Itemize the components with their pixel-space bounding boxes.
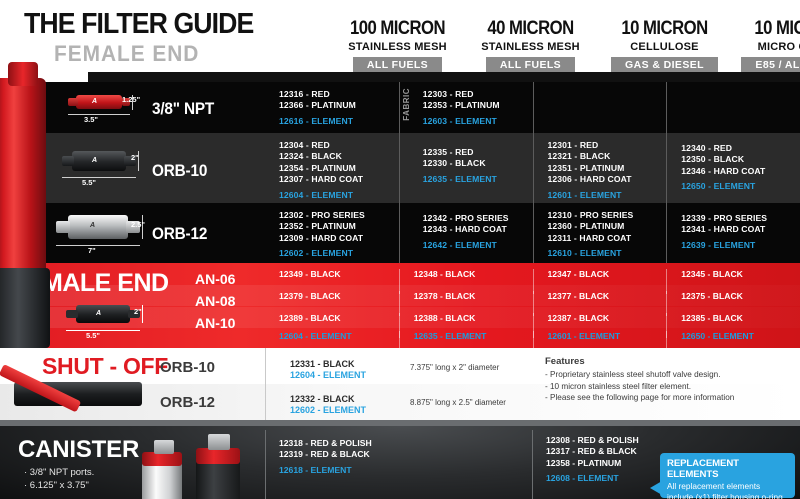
part-number: 12301 - RED [548,140,667,151]
callout-title: REPLACEMENT ELEMENTS [667,458,788,480]
part-number: 12385 - BLACK [681,313,800,324]
column-media-label: MICRO GLASS [665,41,800,53]
canister-section: CANISTER · 3/8" NPT ports. · 6.125" x 3.… [0,426,800,499]
dimension-diameter: 1.25" [122,95,140,104]
brand-logo-icon: A [90,222,95,229]
part-number: 12353 - PLATINUM [423,100,533,111]
male-end-section: MALE END AN-06 AN-08 AN-10 A 5.5" 2" 123… [0,263,800,348]
part-number: 12343 - HARD COAT [423,224,533,235]
part-number: 12348 - BLACK [414,269,533,280]
dimension-line-diameter [142,305,143,323]
dimension-line-length [56,245,140,246]
dimension-line-length [66,330,140,331]
part-number: 12321 - BLACK [548,151,667,162]
part-number: 12311 - HARD COAT [548,233,667,244]
part-number: 12351 - PLATINUM [548,163,667,174]
brand-logo-icon: A [92,157,97,164]
page-title: THE FILTER GUIDE [24,8,253,41]
dimension-line-length [62,177,136,178]
canister-image-polish [140,440,184,499]
part-number: 12358 - PLATINUM [546,458,639,469]
callout-text: All replacement elements include (x1) fi… [667,481,788,499]
male-fitting-photo [0,268,50,348]
shut-off-label-orb12: ORB-12 [160,394,215,411]
filter-endcap-left [66,310,78,318]
cell-npt-100micron: 12316 - RED 12366 - PLATINUM 12616 - ELE… [265,82,399,133]
fabric-side-tag: FABRIC [402,88,411,121]
part-number: 12318 - RED & POLISH [279,438,372,449]
part-number-element: 12635 - ELEMENT [423,174,533,185]
part-number-element: 12602 - ELEMENT [290,404,366,416]
brand-logo-icon: A [92,98,97,105]
part-number: 12354 - PLATINUM [279,163,399,174]
dimension-diameter: 2" [134,307,142,316]
part-number: 12309 - HARD COAT [279,233,399,244]
canister-cell-10micron: 12308 - RED & POLISH 12317 - RED & BLACK… [546,435,639,485]
part-number: 12377 - BLACK [548,291,667,302]
cell-npt-40micron: FABRIC 12303 - RED 12353 - PLATINUM 1260… [399,82,533,133]
table-row-npt: A 3.5" 1.25" 3/8" NPT 12316 - RED 12366 … [0,82,800,133]
part-number: 12341 - HARD COAT [681,224,800,235]
features-title: Features [545,356,734,367]
part-number: 12388 - BLACK [414,313,533,324]
features-block: Features - Proprietary stainless steel s… [545,356,734,404]
part-number: 12389 - BLACK [279,313,399,324]
part-number-element: 12610 - ELEMENT [548,248,667,259]
part-number-element: 12616 - ELEMENT [279,116,399,127]
part-number: 12330 - BLACK [423,158,533,169]
page-header: THE FILTER GUIDE FEMALE END 100 MICRON S… [0,0,800,82]
part-number: 12378 - BLACK [414,291,533,302]
part-number: 12347 - BLACK [548,269,667,280]
filter-endcap-left [68,98,78,106]
part-number-element: 12602 - ELEMENT [279,248,399,259]
part-number: 12346 - HARD COAT [681,166,800,177]
table-row-orb10: A 5.5" 2" ORB-10 12304 - RED 12324 - BLA… [0,133,800,203]
cell-npt-10micron-microglass [666,82,800,133]
part-number: 12317 - RED & BLACK [546,446,639,457]
male-size-an08: AN-08 [195,293,235,309]
part-number: 12340 - RED [681,143,800,154]
canister-cell-100micron: 12318 - RED & POLISH 12319 - RED & BLACK… [279,438,372,476]
part-number: 12352 - PLATINUM [279,221,399,232]
column-micron-label: 10 MICRON [681,18,800,40]
section-title-female-end: FEMALE END [54,41,199,67]
cell-orb10-100micron: 12304 - RED 12324 - BLACK 12354 - PLATIN… [265,133,399,203]
filter-endcap-left [62,156,74,166]
cell-orb12-10micron-microglass: 12339 - PRO SERIES 12341 - HARD COAT 126… [666,203,800,263]
red-canister-cap-photo [8,62,38,86]
part-number: 12345 - BLACK [681,269,800,280]
cell-orb12-10micron-cellulose: 12310 - PRO SERIES 12360 - PLATINUM 1231… [533,203,667,263]
dimension-diameter: 2" [131,153,139,162]
section-title-shut-off: SHUT - OFF [42,353,168,380]
part-number: 12308 - RED & POLISH [546,435,639,446]
shut-off-label-orb10: ORB-10 [160,359,215,376]
cell-npt-10micron-cellulose [533,82,667,133]
part-number: 12349 - BLACK [279,269,399,280]
male-size-an06: AN-06 [195,271,235,287]
header-rule [88,72,800,82]
cell-orb12-100micron: 12302 - PRO SERIES 12352 - PLATINUM 1230… [265,203,399,263]
row-label-orb10: ORB-10 [152,162,207,181]
part-number: 12319 - RED & BLACK [279,449,372,460]
filter-body-image [68,215,128,239]
canister-divider-2 [532,430,533,499]
canister-bullet: · 6.125" x 3.75" [24,480,89,491]
part-number: 12342 - PRO SERIES [423,213,533,224]
part-number-element: 12608 - ELEMENT [546,473,639,484]
filter-body-image [76,95,122,109]
part-number-element: 12604 - ELEMENT [279,331,399,342]
dimension-length: 7" [88,246,96,255]
part-number-element: 12642 - ELEMENT [423,240,533,251]
filter-body-image [76,305,130,323]
part-number: 12360 - PLATINUM [548,221,667,232]
section-title-male-end: MALE END [42,269,169,298]
part-number: 12387 - BLACK [548,313,667,324]
shut-off-dimension-orb10: 7.375" long x 2" diameter [410,363,499,372]
cell-orb12-40micron: 12342 - PRO SERIES 12343 - HARD COAT 126… [399,203,533,263]
column-fuel-badge: E85 / ALCOHOL [741,57,800,73]
canister-bullet: · 3/8" NPT ports. [24,467,94,478]
filter-body-image [72,151,126,171]
part-number-element: 12603 - ELEMENT [423,116,533,127]
shut-off-section: SHUT - OFF ORB-10 ORB-12 12331 - BLACK 1… [0,348,800,420]
feature-item: - Please see the following page for more… [545,392,734,404]
canister-image-black [194,434,242,499]
cell-orb10-40micron: 12335 - RED 12330 - BLACK 12635 - ELEMEN… [399,133,533,203]
part-number: 12339 - PRO SERIES [681,213,800,224]
dimension-diameter: 2.5" [131,220,145,229]
female-end-table: A 3.5" 1.25" 3/8" NPT 12316 - RED 12366 … [0,82,800,499]
canister-divider-1 [265,430,266,499]
brand-logo-icon: A [96,310,101,317]
part-number: 12307 - HARD COAT [279,174,399,185]
filter-guide-page: THE FILTER GUIDE FEMALE END 100 MICRON S… [0,0,800,499]
part-number: 12306 - HARD COAT [548,174,667,185]
part-number: 12335 - RED [423,147,533,158]
part-number-element: 12635 - ELEMENT [414,331,533,342]
part-number-element: 12650 - ELEMENT [681,331,800,342]
part-number: 12366 - PLATINUM [279,100,399,111]
part-number: 12379 - BLACK [279,291,399,302]
part-number-element: 12604 - ELEMENT [290,369,366,381]
cell-orb10-10micron-microglass: 12340 - RED 12350 - BLACK 12346 - HARD C… [666,133,800,203]
part-number-element: 12604 - ELEMENT [279,190,399,201]
filter-endcap-left [56,221,70,233]
row-label-npt: 3/8" NPT [152,100,214,119]
part-number: 12302 - PRO SERIES [279,210,399,221]
table-row-orb12: A 7" 2.5" ORB-12 12302 - PRO SERIES 1235… [0,203,800,263]
dimension-line-length [68,114,130,115]
shut-off-dimension-orb12: 8.875" long x 2.5" diameter [410,398,506,407]
part-number-element: 12639 - ELEMENT [681,240,800,251]
part-number: 12316 - RED [279,89,399,100]
part-number-element: 12618 - ELEMENT [279,465,372,476]
male-size-an10: AN-10 [195,315,235,331]
part-number: 12304 - RED [279,140,399,151]
part-number: 12303 - RED [423,89,533,100]
shut-off-divider [265,348,266,420]
replacement-elements-callout: REPLACEMENT ELEMENTS All replacement ele… [660,453,795,498]
dimension-length: 3.5" [84,115,98,124]
section-title-canister: CANISTER [18,436,139,464]
part-number: 12350 - BLACK [681,154,800,165]
column-header-10-micron-micro-glass: 10 MICRON MICRO GLASS E85 / ALCOHOL [665,18,800,73]
part-number-element: 12601 - ELEMENT [548,190,667,201]
dimension-length: 5.5" [86,331,100,340]
red-canister-photo [0,78,46,293]
cell-orb10-10micron-cellulose: 12301 - RED 12321 - BLACK 12351 - PLATIN… [533,133,667,203]
part-number: 12310 - PRO SERIES [548,210,667,221]
part-number: 12375 - BLACK [681,291,800,302]
part-number-element: 12650 - ELEMENT [681,181,800,192]
part-number: 12324 - BLACK [279,151,399,162]
feature-item: - Proprietary stainless steel shutoff va… [545,369,734,381]
dimension-length: 5.5" [82,178,96,187]
part-number-element: 12601 - ELEMENT [548,331,667,342]
row-label-orb12: ORB-12 [152,225,207,244]
feature-item: - 10 micron stainless steel filter eleme… [545,381,734,393]
